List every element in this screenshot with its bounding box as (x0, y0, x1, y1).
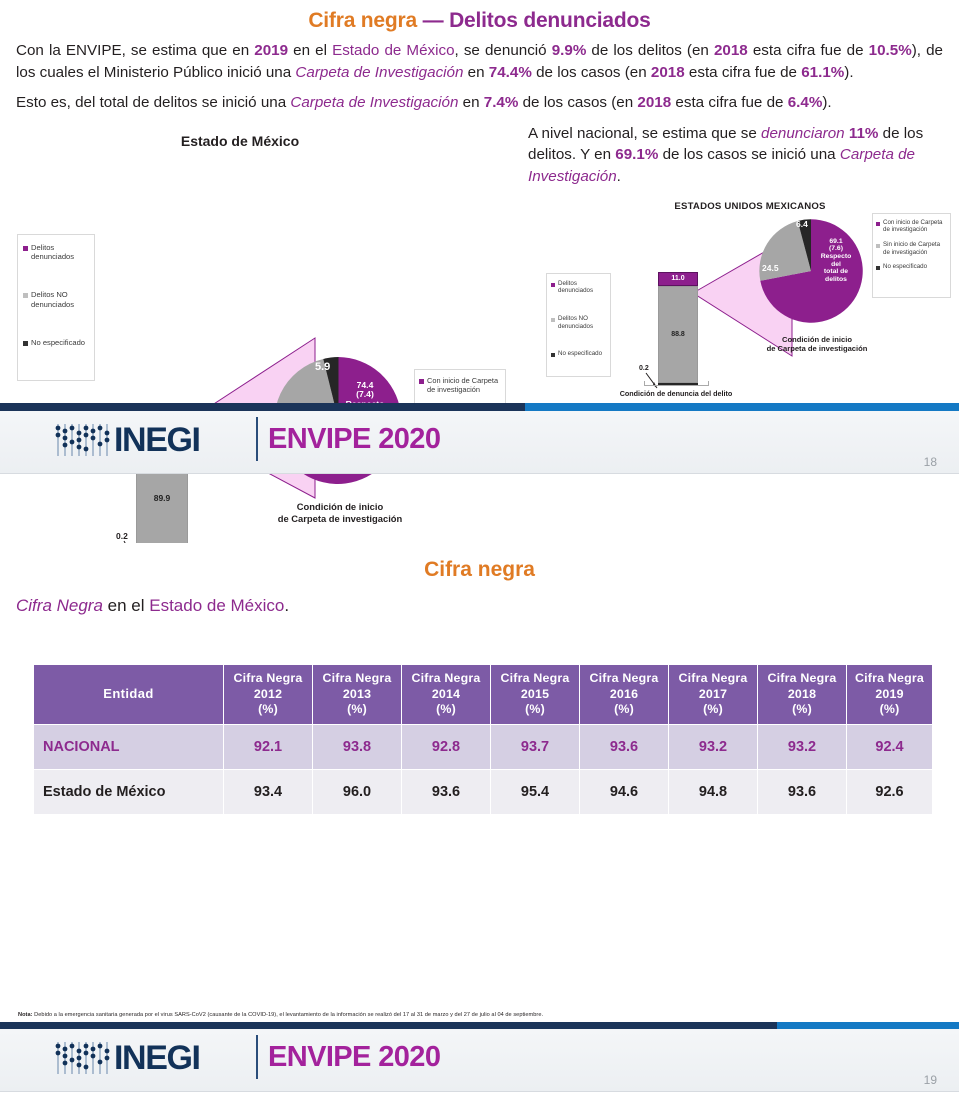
header-line3: (%) (315, 702, 399, 718)
legend-label: Con inicio de Carpeta de investigación (427, 376, 501, 394)
column-header-2013: Cifra Negra 2013 (%) (313, 665, 402, 725)
header-line3: (%) (404, 702, 488, 718)
p1-s2: en el (288, 42, 332, 59)
chart-left-title: Estado de México (60, 133, 420, 149)
header-line3: (%) (849, 702, 930, 718)
legend-item-sin-inicio: Sin inicio de Carpeta de investigación (876, 241, 947, 256)
p1-pct-61-1: 61.1% (801, 64, 844, 81)
cell-nacional-2012: 92.1 (224, 724, 313, 769)
header-line2: 2014 (404, 687, 488, 703)
header-line2: 2015 (493, 687, 577, 703)
p1-s4: de los delitos (en (586, 42, 714, 59)
chart-right-title: ESTADOS UNIDOS MEXICANOS (590, 201, 910, 212)
p1-s1: Con la ENVIPE, se estima que en (16, 42, 254, 59)
p2-s1: Esto es, del total de delitos se inició … (16, 94, 290, 111)
cell-edomex-2012: 93.4 (224, 769, 313, 814)
column-header-2015: Cifra Negra 2015 (%) (491, 665, 580, 725)
header-line1: Cifra Negra (849, 671, 930, 687)
legend-label: Sin inicio de Carpeta de investigación (883, 241, 947, 256)
header-line1: Cifra Negra (493, 671, 577, 687)
legend-swatch-grey-icon (23, 293, 28, 298)
legend-swatch-black-icon (551, 353, 555, 357)
header-line3: (%) (493, 702, 577, 718)
cell-edomex-2015: 95.4 (491, 769, 580, 814)
rule-bar-slide1 (0, 403, 959, 411)
legend-swatch-grey-icon (876, 244, 880, 248)
legend-swatch-purple-icon (876, 222, 880, 226)
header-line1: Cifra Negra (671, 671, 755, 687)
callout-wedge-left (130, 338, 131, 339)
row-label-estado-de-mexico: Estado de México (34, 769, 224, 814)
header-line1: Cifra Negra (226, 671, 310, 687)
paragraph-2: Esto es, del total de delitos se inició … (16, 92, 943, 114)
legend-swatch-grey-icon (551, 318, 555, 322)
legend-swatch-purple-icon (419, 379, 424, 384)
page-title-2: Cifra negra (0, 543, 959, 582)
note-text: Debido a la emergencia sanitaria generad… (33, 1012, 544, 1018)
legend-label: No especificado (558, 350, 602, 358)
p1-carpeta-investigacion: Carpeta de Investigación (295, 64, 463, 81)
p1-edomex: Estado de México (332, 42, 454, 59)
column-header-entidad: Entidad (34, 665, 224, 725)
intro-text-block: Con la ENVIPE, se estima que en 2019 en … (16, 40, 943, 114)
pie-center-l6: delitos (808, 276, 864, 284)
header-line3: (%) (671, 702, 755, 718)
header-line1: Cifra Negra (582, 671, 666, 687)
bar-segment-denunciados: 11.0 (658, 272, 698, 286)
cell-nacional-2015: 93.7 (491, 724, 580, 769)
leader-line-left-icon (120, 541, 121, 542)
subtitle-edomex: Estado de México (149, 596, 284, 615)
legend-label: Delitos NO denunciados (31, 290, 89, 309)
legend-swatch-black-icon (876, 266, 880, 270)
pie-caption-left: Condición de inicio de Carpeta de invest… (240, 501, 440, 525)
cell-nacional-2017: 93.2 (669, 724, 758, 769)
page-number: 18 (924, 455, 937, 469)
rt-pct-11: 11% (849, 125, 879, 142)
pie-center-l3: Respecto (808, 253, 864, 261)
axis-cap-right-start (644, 381, 645, 386)
cifra-negra-table: Entidad Cifra Negra 2012 (%) Cifra Negra… (33, 664, 933, 815)
header-line3: (%) (226, 702, 310, 718)
p2-carpeta-investigacion: Carpeta de Investigación (290, 94, 458, 111)
rt-s5: . (617, 168, 621, 185)
subtitle-end: . (284, 596, 289, 615)
footer-brand: ENVIPE 2020 (268, 1040, 440, 1074)
footer-divider (256, 1035, 258, 1079)
legend-item-con-inicio: Con inicio de Carpeta de investigación (876, 219, 947, 234)
legend-label: Delitos denunciados (558, 280, 606, 295)
table-row: Estado de México 93.4 96.0 93.6 95.4 94.… (34, 769, 933, 814)
table-row: NACIONAL 92.1 93.8 92.8 93.7 93.6 93.2 9… (34, 724, 933, 769)
subtitle-2: Cifra Negra en el Estado de México. (16, 596, 959, 616)
header-line1: Cifra Negra (760, 671, 844, 687)
cell-edomex-2013: 96.0 (313, 769, 402, 814)
note-label: Nota: (18, 1012, 33, 1018)
bar-value-no-especificado-label: 0.2 (116, 531, 128, 541)
footer-slide1: INEGI ENVIPE 2020 18 (0, 411, 959, 474)
page-number: 19 (924, 1073, 937, 1087)
cell-nacional-2018: 93.2 (758, 724, 847, 769)
bar-axis-label-right: Condición de denuncia del delito (596, 389, 756, 398)
p2-pct-7-4: 7.4% (484, 94, 519, 111)
p2-s2: en (458, 94, 483, 111)
column-header-2019: Cifra Negra 2019 (%) (847, 665, 933, 725)
axis-cap-right-end (708, 381, 709, 386)
cell-nacional-2019: 92.4 (847, 724, 933, 769)
pie-center-l5: total de (808, 268, 864, 276)
cell-nacional-2016: 93.6 (580, 724, 669, 769)
subtitle-mid: en el (103, 596, 149, 615)
pie-chart-right: 24.5 6.4 69.1 (7.6) Respecto del total d… (756, 216, 866, 326)
column-header-2014: Cifra Negra 2014 (%) (402, 665, 491, 725)
rt-s1: A nivel nacional, se estima que se (528, 125, 761, 142)
header-line2: 2017 (671, 687, 755, 703)
pie-center-annotation-right: 69.1 (7.6) Respecto del total de delitos (808, 238, 864, 284)
header-line2: 2019 (849, 687, 930, 703)
stacked-bar-right: 11.0 88.8 (658, 272, 698, 385)
rt-s4: de los casos se inició una (658, 146, 840, 163)
p1-s7: en (463, 64, 488, 81)
cell-edomex-2018: 93.6 (758, 769, 847, 814)
p1-s3: , se denunció (455, 42, 552, 59)
p1-pct-74-4: 74.4% (489, 64, 532, 81)
table-note: Nota: Debido a la emergencia sanitaria g… (18, 1012, 543, 1018)
footer-brand: ENVIPE 2020 (268, 422, 440, 456)
header-line3: (%) (582, 702, 666, 718)
cell-nacional-2014: 92.8 (402, 724, 491, 769)
charts-row: Estado de México Delitos denunciados Del… (0, 123, 959, 403)
cell-edomex-2016: 94.6 (580, 769, 669, 814)
p1-s8: de los casos (en (532, 64, 651, 81)
legend-item-delitos-denunciados: Delitos denunciados (551, 280, 606, 295)
rule-bar-dark-segment (0, 403, 525, 411)
inegi-wordmark: INEGI (114, 423, 200, 457)
pie-label-black-right: 6.4 (796, 220, 808, 230)
rt-pct-69-1: 69.1% (615, 146, 658, 163)
legend-label: Delitos denunciados (31, 243, 89, 262)
pie-caption-line2: de Carpeta de investigación (728, 344, 906, 353)
legend-item-no-especificado: No especificado (876, 263, 947, 271)
cell-nacional-2013: 93.8 (313, 724, 402, 769)
paragraph-1: Con la ENVIPE, se estima que en 2019 en … (16, 40, 943, 83)
pie-caption-line1: Condición de inicio (240, 501, 440, 513)
cell-edomex-2019: 92.6 (847, 769, 933, 814)
page-title-part1: Cifra negra (308, 9, 417, 32)
rt-denunciaron: denunciaron (761, 125, 845, 142)
page-title-dash: — (417, 9, 449, 32)
p1-s9: esta cifra fue de (685, 64, 802, 81)
header-line1: Cifra Negra (404, 671, 488, 687)
header-line1: Cifra Negra (315, 671, 399, 687)
header-line2: 2018 (760, 687, 844, 703)
bar-value-no-denunciados: 88.8 (671, 331, 685, 338)
rule-bar-blue-segment (525, 403, 959, 411)
legend-label: Delitos NO denunciados (558, 315, 606, 330)
bar-legend-right: Delitos denunciados Delitos NO denunciad… (546, 273, 611, 377)
legend-label: Con inicio de Carpeta de investigación (883, 219, 947, 234)
chart-estados-unidos-mexicanos: A nivel nacional, se estima que se denun… (520, 123, 959, 403)
slide-cifra-negra-tabla: Cifra negra Cifra Negra en el Estado de … (0, 543, 959, 1092)
header-line2: 2012 (226, 687, 310, 703)
column-header-2017: Cifra Negra 2017 (%) (669, 665, 758, 725)
header-line3: (%) (760, 702, 844, 718)
pie-label-grey-right: 24.5 (762, 264, 779, 274)
p1-s10: ). (844, 64, 853, 81)
p2-s3: de los casos (en (518, 94, 637, 111)
inegi-logo: INEGI (54, 1040, 200, 1076)
legend-item-no-especificado: No especificado (551, 350, 606, 358)
bar-axis-right (644, 385, 709, 386)
pie-caption-line2: de Carpeta de investigación (240, 513, 440, 525)
column-header-2012: Cifra Negra 2012 (%) (224, 665, 313, 725)
inegi-wordmark: INEGI (114, 1041, 200, 1075)
legend-item-delitos-denunciados: Delitos denunciados (23, 243, 89, 262)
legend-item-delitos-no-denunciados: Delitos NO denunciados (23, 290, 89, 309)
footer-slide2: INEGI ENVIPE 2020 19 (0, 1029, 959, 1092)
bar-segment-no-denunciados: 88.8 (658, 286, 698, 383)
pie-center-l4: del (808, 261, 864, 269)
callout-wedge-right (660, 268, 661, 269)
inegi-logo: INEGI (54, 422, 200, 458)
p1-s5: esta cifra fue de (748, 42, 869, 59)
footer-divider (256, 417, 258, 461)
bar-value-denunciados: 11.0 (671, 275, 684, 282)
header-line1: Entidad (103, 686, 153, 701)
inegi-abacus-icon (54, 1040, 112, 1076)
page-title-part2: Delitos denunciados (449, 9, 651, 32)
bar-value-no-especificado-label: 0.2 (639, 365, 649, 372)
legend-item-con-inicio: Con inicio de Carpeta de investigación (419, 376, 501, 394)
header-line2: 2013 (315, 687, 399, 703)
pie-center-l1: 69.1 (808, 238, 864, 246)
p1-year-2018-b: 2018 (651, 64, 685, 81)
p2-year-2018: 2018 (637, 94, 671, 111)
cell-edomex-2014: 93.6 (402, 769, 491, 814)
bar-value-no-denunciados: 89.9 (154, 493, 171, 503)
leader-line-right-icon (643, 373, 644, 374)
p1-year-2019: 2019 (254, 42, 288, 59)
p2-s4: esta cifra fue de (671, 94, 788, 111)
p1-year-2018-a: 2018 (714, 42, 748, 59)
legend-swatch-purple-icon (551, 283, 555, 287)
p1-pct-9-9: 9.9% (552, 42, 587, 59)
pie-caption-right: Condición de inicio de Carpeta de invest… (728, 335, 906, 354)
subtitle-cifra-negra: Cifra Negra (16, 596, 103, 615)
legend-label: No especificado (31, 338, 85, 347)
p2-pct-6-4: 6.4% (788, 94, 823, 111)
row-label-nacional: NACIONAL (34, 724, 224, 769)
pie-legend-right: Con inicio de Carpeta de investigación S… (872, 213, 951, 298)
inegi-abacus-icon (54, 422, 112, 458)
header-line2: 2016 (582, 687, 666, 703)
table-header-row: Entidad Cifra Negra 2012 (%) Cifra Negra… (34, 665, 933, 725)
legend-swatch-purple-icon (23, 246, 28, 251)
legend-swatch-black-icon (23, 341, 28, 346)
legend-item-no-especificado: No especificado (23, 338, 89, 347)
legend-label: No especificado (883, 263, 927, 271)
column-header-2018: Cifra Negra 2018 (%) (758, 665, 847, 725)
pie-caption-line1: Condición de inicio (728, 335, 906, 344)
bar-legend-left: Delitos denunciados Delitos NO denunciad… (17, 234, 95, 381)
right-text-block: A nivel nacional, se estima que se denun… (528, 123, 956, 188)
cell-edomex-2017: 94.8 (669, 769, 758, 814)
p2-s5: ). (822, 94, 831, 111)
pie-label-black-left: 5.9 (315, 361, 330, 373)
column-header-2016: Cifra Negra 2016 (%) (580, 665, 669, 725)
pie-center-l2: (7.6) (808, 245, 864, 253)
p1-pct-10-5: 10.5% (869, 42, 912, 59)
legend-item-delitos-no-denunciados: Delitos NO denunciados (551, 315, 606, 330)
chart-estado-de-mexico: Estado de México Delitos denunciados Del… (0, 123, 520, 403)
page-title: Cifra negra — Delitos denunciados (0, 0, 959, 32)
slide-cifra-negra-delitos-denunciados: Cifra negra — Delitos denunciados Con la… (0, 0, 959, 543)
